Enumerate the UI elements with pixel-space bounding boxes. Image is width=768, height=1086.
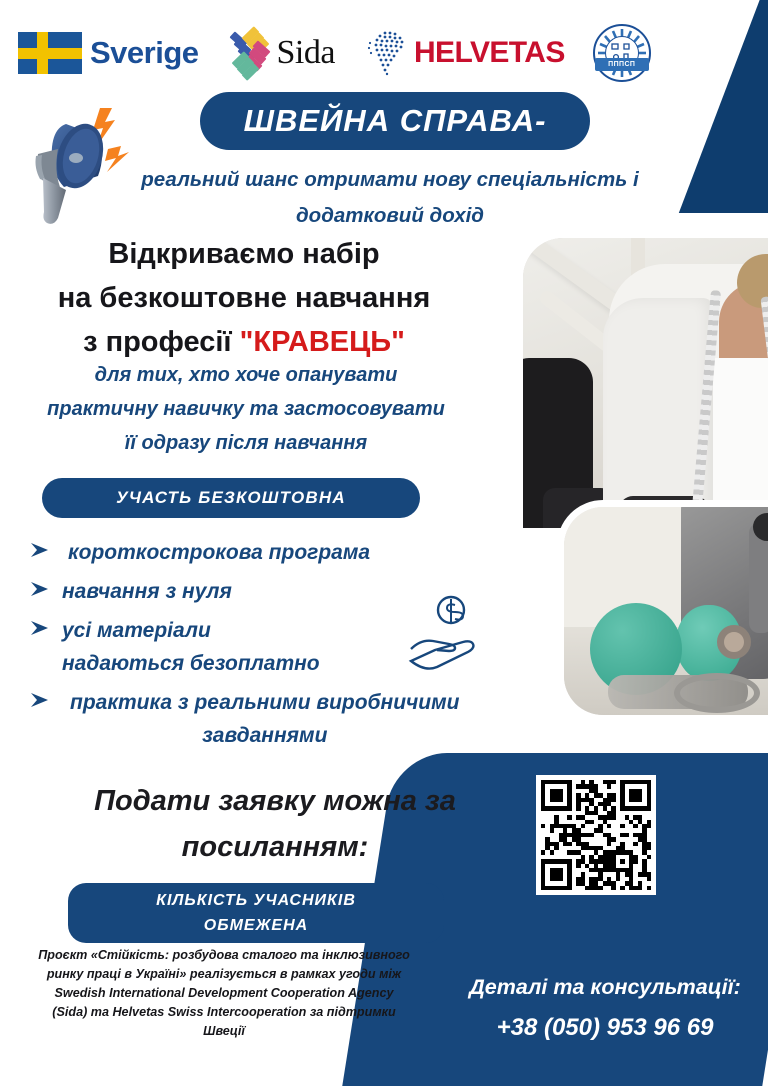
- benefit-text: навчання з нуля: [62, 575, 232, 608]
- logo-sverige-label: Sverige: [90, 35, 199, 71]
- project-note-line-4: (Sida) та Helvetas Swiss Intercooperatio…: [22, 1003, 426, 1022]
- benefit-text-line-1: усі матеріали: [62, 614, 320, 647]
- lead-paragraph: для тих, хто хоче опанувати практичну на…: [16, 358, 476, 460]
- poster-root: Sverige Sida: [0, 0, 768, 1086]
- benefit-text: короткострокова програма: [62, 536, 370, 569]
- subtitle-line-1: реальний шанс отримати нову спеціальніст…: [120, 162, 660, 198]
- headline-line-2: на безкоштовне навчання: [24, 276, 464, 320]
- list-item: короткострокова програма: [28, 536, 548, 569]
- limit-line-1: КІЛЬКІСТЬ УЧАСНИКІВ: [156, 888, 356, 913]
- project-note-line-1: Проєкт «Стійкість: розбудова сталого та …: [22, 946, 426, 965]
- project-disclaimer: Проєкт «Стійкість: розбудова сталого та …: [22, 946, 426, 1041]
- contact-title: Деталі та консультації:: [455, 975, 755, 1000]
- emblem-banner-label: ПППСП: [595, 58, 649, 71]
- apply-line-2: посиланням:: [60, 824, 490, 870]
- poster-subtitle: реальний шанс отримати нову спеціальніст…: [120, 162, 660, 234]
- lead-line-3: її одразу після навчання: [16, 426, 476, 460]
- headline-profession-prefix: з професії: [83, 326, 240, 358]
- poster-title: ШВЕЙНА СПРАВА-: [244, 103, 547, 139]
- lead-line-1: для тих, хто хоче опанувати: [16, 358, 476, 392]
- partner-logo-row: Sverige Sida: [18, 22, 708, 84]
- subtitle-line-2: додатковий дохід: [120, 198, 660, 234]
- logo-sida: Sida: [229, 32, 335, 74]
- hand-holding-dollar-icon: [405, 595, 491, 673]
- lead-line-2: практичну навичку та застосовувати: [16, 392, 476, 426]
- free-participation-label: УЧАСТЬ БЕЗКОШТОВНА: [116, 488, 346, 508]
- benefit-text-line-2: завданнями: [70, 719, 460, 752]
- arrow-bullet-icon: [28, 686, 62, 715]
- arrow-bullet-icon: [28, 536, 62, 565]
- swedish-flag-icon: [18, 32, 82, 74]
- limited-places-banner: КІЛЬКІСТЬ УЧАСНИКІВ ОБМЕЖЕНА: [68, 883, 444, 943]
- arrow-bullet-icon: [28, 575, 62, 604]
- apply-line-1: Подати заявку можна за: [60, 778, 490, 824]
- project-note-line-5: Швеції: [22, 1022, 426, 1041]
- contact-phone[interactable]: +38 (050) 953 96 69: [455, 1014, 755, 1042]
- sewing-machine-photo: [557, 500, 768, 722]
- headline-line-1: Відкриваємо набір: [24, 232, 464, 276]
- apply-instructions: Подати заявку можна за посиланням:: [60, 778, 490, 870]
- poster-title-banner: ШВЕЙНА СПРАВА-: [200, 92, 590, 150]
- benefit-text-line-1: практика з реальними виробничими: [70, 686, 460, 719]
- project-note-line-2: ринку праці в Україні» реалізується в ра…: [22, 965, 426, 984]
- qr-code-icon[interactable]: [536, 775, 656, 895]
- seamstress-photo: [517, 232, 768, 534]
- logo-sverige: Sverige: [18, 32, 199, 74]
- logo-sida-label: Sida: [277, 34, 335, 72]
- headline-profession-accent: "КРАВЕЦЬ": [240, 326, 405, 358]
- project-note-line-3: Swedish International Development Cooper…: [22, 984, 426, 1003]
- circular-emblem-icon: ПППСП: [593, 24, 651, 82]
- helvetas-globe-icon: [363, 27, 411, 79]
- arrow-bullet-icon: [28, 614, 62, 643]
- free-participation-banner: УЧАСТЬ БЕЗКОШТОВНА: [42, 478, 420, 518]
- limit-line-2: ОБМЕЖЕНА: [204, 913, 308, 938]
- list-item: практика з реальними виробничими завданн…: [28, 686, 548, 752]
- logo-helvetas-label: HELVETAS: [414, 36, 565, 70]
- sida-pinwheel-icon: [229, 32, 271, 74]
- benefit-text-line-2: надаються безоплатно: [62, 647, 320, 680]
- page-title: Відкриваємо набір на безкоштовне навчанн…: [24, 232, 464, 364]
- logo-helvetas: HELVETAS: [363, 27, 565, 79]
